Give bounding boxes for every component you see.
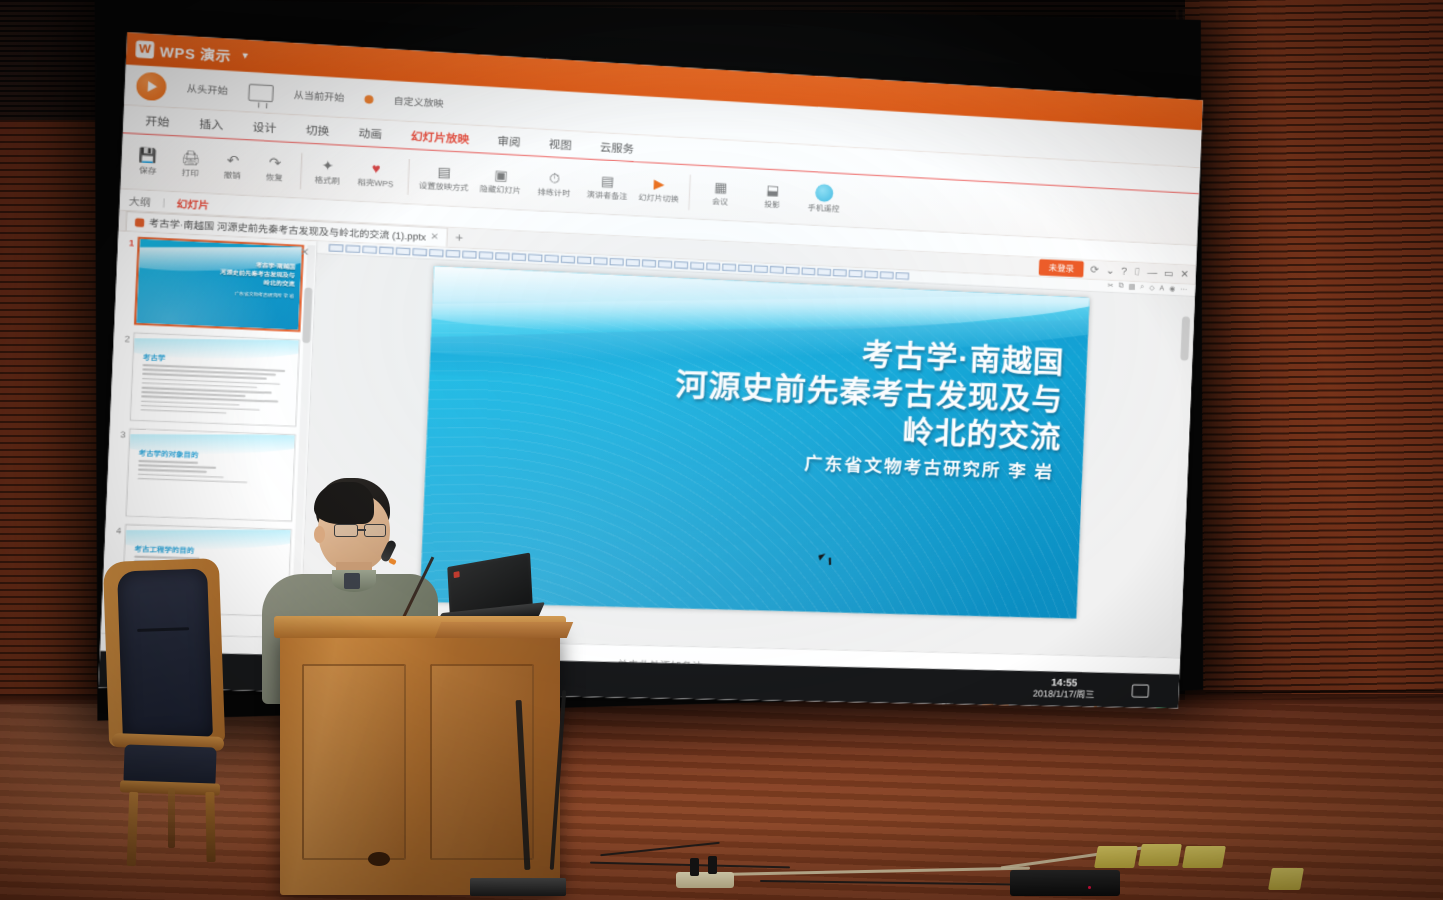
meeting-button[interactable]: ▦ 会议 xyxy=(695,177,745,211)
print-label: 打印 xyxy=(181,166,199,179)
format-painter-icon: ✦ xyxy=(321,158,334,174)
login-status-badge[interactable]: 未登录 xyxy=(1039,259,1084,277)
app-title: WPS 演示 xyxy=(159,40,231,65)
new-tab-icon[interactable]: + xyxy=(455,230,463,245)
thumbnail-number-3: 3 xyxy=(111,428,126,517)
redo-label: 恢复 xyxy=(266,171,283,184)
help-icon[interactable]: ? xyxy=(1121,266,1127,277)
paste-icon[interactable]: ▤ xyxy=(1128,283,1135,291)
pptx-file-icon xyxy=(135,218,145,227)
setup-show-label: 设置放映方式 xyxy=(419,179,469,193)
yellow-cable-cover-3 xyxy=(1182,846,1226,868)
slide-thumbnail-1[interactable]: 考古学·南越国 河源史前先秦考古发现及与 岭北的交流 广东省文物考古研究所 李 … xyxy=(134,237,304,332)
power-strip xyxy=(676,872,734,888)
presenter-notes-icon: ▤ xyxy=(601,173,615,188)
undo-label: 撤销 xyxy=(224,169,242,182)
tab-insert[interactable]: 插入 xyxy=(184,112,239,139)
redo-button[interactable]: ↷ 恢复 xyxy=(255,152,295,186)
tab-review[interactable]: 审阅 xyxy=(483,130,535,156)
save-label: 保存 xyxy=(139,164,157,177)
print-button[interactable]: 🖨 打印 xyxy=(170,147,210,181)
glasses-lens-left xyxy=(334,524,358,537)
thumbnail-number-2: 2 xyxy=(115,332,130,421)
projection-icon: ⬓ xyxy=(766,183,780,198)
triangle-play-icon: ▶ xyxy=(653,176,664,191)
chair-backrest xyxy=(117,568,213,739)
clock-date: 2018/1/17/周三 xyxy=(1033,688,1095,700)
presenter-glasses xyxy=(334,524,390,538)
undo-icon: ↶ xyxy=(226,153,239,169)
close-button[interactable]: ✕ xyxy=(1180,269,1189,280)
setup-show-icon: ▤ xyxy=(437,164,451,179)
show-desktop-icon[interactable] xyxy=(1132,684,1150,697)
wooden-armchair xyxy=(98,560,228,860)
lecture-hall-scene: W WPS 演示 ▾ 从头开始 从当前开始 自定义放映 开始 插入 设计 切换 xyxy=(0,0,1443,900)
ribbon-divider-2 xyxy=(407,158,410,194)
tab-animation[interactable]: 动画 xyxy=(343,121,396,147)
thumbnail-row-2[interactable]: 2 考古学 xyxy=(115,332,308,427)
hide-slide-icon: ▣ xyxy=(494,167,508,182)
save-button[interactable]: 💾 保存 xyxy=(128,145,169,179)
slide-transition-button[interactable]: ▶ 幻灯片切换 xyxy=(635,173,683,207)
podium-slanted-ledge xyxy=(435,622,573,638)
play-icon[interactable] xyxy=(136,71,167,101)
format-painter-label: 格式刷 xyxy=(314,173,340,186)
projection-label: 投影 xyxy=(764,198,780,210)
color-icon[interactable]: ◉ xyxy=(1169,285,1175,293)
slides-tab[interactable]: 幻灯片 xyxy=(176,195,209,212)
rehearse-timing-button[interactable]: ⏱ 排练计时 xyxy=(529,167,580,201)
slide-transition-label: 幻灯片切换 xyxy=(638,191,679,205)
chair-leg-front-left xyxy=(127,792,139,866)
chair-leg-front-right xyxy=(205,792,215,862)
undo-button[interactable]: ↶ 撤销 xyxy=(213,150,253,184)
more-icon[interactable]: ⋯ xyxy=(1180,285,1187,293)
presenter-shirt xyxy=(344,573,360,589)
device-led-indicator xyxy=(1088,886,1091,889)
laptop-logo-icon xyxy=(453,571,459,578)
podium-cable-hole xyxy=(368,852,390,866)
docer-button[interactable]: ♥ 稻壳WPS xyxy=(349,157,402,192)
outline-tab[interactable]: 大纲 xyxy=(129,193,152,209)
thumb4-heading: 考古工程学的目的 xyxy=(134,543,194,555)
hide-slide-button[interactable]: ▣ 隐藏幻灯片 xyxy=(475,164,527,198)
qa-label-from-start[interactable]: 从头开始 xyxy=(187,81,229,97)
thumb2-body-lines xyxy=(140,364,290,419)
copy-icon[interactable]: ⧉ xyxy=(1118,282,1123,290)
wps-logo-icon: W xyxy=(135,40,154,58)
pane-close-icon[interactable]: ✕ xyxy=(300,247,310,259)
presenter-hair-front xyxy=(314,482,374,524)
meeting-icon: ▦ xyxy=(714,180,728,195)
presenter-ear xyxy=(314,526,325,543)
docer-label: 稻壳WPS xyxy=(357,176,393,190)
text-icon[interactable]: A xyxy=(1159,285,1164,292)
cut-icon[interactable]: ✂ xyxy=(1107,282,1113,290)
tab-design[interactable]: 设计 xyxy=(237,115,291,142)
ribbon-divider-3 xyxy=(688,174,691,209)
glasses-lens-right xyxy=(364,524,386,537)
chevron-down-icon[interactable]: ▾ xyxy=(242,50,248,62)
setup-show-button[interactable]: ▤ 设置放映方式 xyxy=(415,161,473,196)
phone-remote-label: 手机遥控 xyxy=(808,202,840,215)
heart-icon: ♥ xyxy=(371,161,380,176)
format-painter-button[interactable]: ✦ 格式刷 xyxy=(308,155,348,189)
tab-start[interactable]: 开始 xyxy=(130,109,185,136)
tab-slideshow[interactable]: 幻灯片放映 xyxy=(396,124,484,152)
phone-remote-icon xyxy=(815,184,834,202)
refresh-icon[interactable]: ⟳ xyxy=(1090,264,1099,276)
yellow-cable-cover-1 xyxy=(1094,846,1138,868)
yellow-cable-cover-2 xyxy=(1138,844,1182,866)
meeting-label: 会议 xyxy=(712,195,728,207)
glasses-bridge xyxy=(358,529,366,531)
tab-view[interactable]: 视图 xyxy=(534,132,586,158)
rehearse-label: 排练计时 xyxy=(537,186,570,199)
floor-device-small xyxy=(470,878,566,896)
thumb1-text: 考古学·南越国 河源史前先秦考古发现及与 岭北的交流 广东省文物考古研究所 李 … xyxy=(219,260,295,301)
power-plug-2 xyxy=(708,856,717,874)
thumbnail-number-1: 1 xyxy=(119,236,134,325)
power-plug-1 xyxy=(690,858,699,876)
redo-icon: ↷ xyxy=(268,155,281,171)
close-icon[interactable]: ✕ xyxy=(430,231,439,243)
thumb2-heading: 考古学 xyxy=(143,351,166,363)
projector-icon[interactable] xyxy=(248,83,274,102)
projection-button[interactable]: ⬓ 投影 xyxy=(747,180,797,214)
custom-show-icon[interactable] xyxy=(364,94,373,103)
zoom-icon[interactable]: ⌕ xyxy=(1140,283,1144,291)
save-icon: 💾 xyxy=(139,148,158,164)
tab-transition[interactable]: 切换 xyxy=(291,118,345,144)
presenter-notes-label: 演讲者备注 xyxy=(587,188,628,202)
yellow-cable-cover-4 xyxy=(1268,868,1304,890)
slide-thumbnail-2[interactable]: 考古学 xyxy=(130,332,300,426)
chair-leg-rear xyxy=(168,788,175,848)
thumbnail-row-1[interactable]: 1 考古学·南越国 河源史前先秦考古发现及与 岭北的交流 广东省文物考古研究所 … xyxy=(119,236,312,333)
chevron-down-icon-2[interactable]: ⌄ xyxy=(1106,265,1115,276)
switcher-divider: | xyxy=(162,196,165,207)
qa-label-from-current[interactable]: 从当前开始 xyxy=(293,88,344,105)
hide-slide-label: 隐藏幻灯片 xyxy=(480,182,522,196)
qa-label-custom-show[interactable]: 自定义放映 xyxy=(393,94,444,111)
print-icon: 🖨 xyxy=(181,150,201,166)
presenter-notes-button[interactable]: ▤ 演讲者备注 xyxy=(582,170,633,204)
tab-cloud[interactable]: 云服务 xyxy=(585,135,648,161)
timer-icon: ⏱ xyxy=(549,171,561,186)
canvas-scrollbar-handle[interactable] xyxy=(1180,316,1190,360)
taskbar-clock[interactable]: 14:55 2018/1/17/周三 xyxy=(1033,677,1119,701)
thumb3-heading: 考古学的对象目的 xyxy=(139,447,199,460)
phone-remote-button[interactable]: 手机遥控 xyxy=(799,181,849,217)
ribbon-divider xyxy=(300,152,303,188)
podium-panel-left xyxy=(302,664,406,860)
restore-icon[interactable]: ⌷ xyxy=(1134,266,1140,277)
thumbnail-scrollbar-handle[interactable] xyxy=(302,288,312,344)
shape-icon[interactable]: ◇ xyxy=(1149,284,1155,292)
wall-seam xyxy=(1185,690,1443,693)
maximize-button[interactable]: ▭ xyxy=(1164,268,1174,279)
floor-black-device xyxy=(1010,870,1120,896)
minimize-button[interactable]: — xyxy=(1147,267,1157,279)
